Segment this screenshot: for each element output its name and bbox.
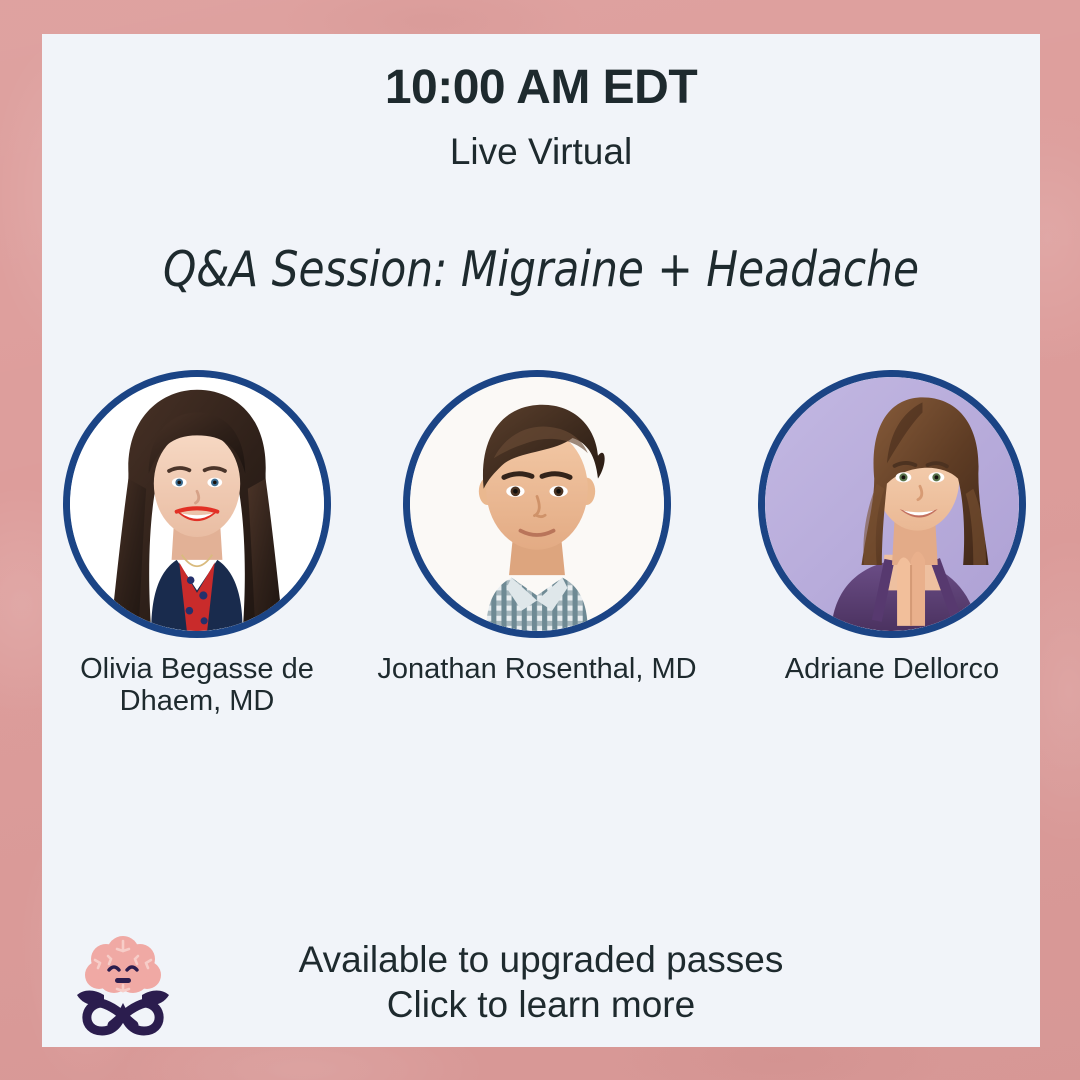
session-format: Live Virtual xyxy=(42,133,1040,170)
headshot-olivia-begasse-de-dhaem xyxy=(70,377,324,631)
speaker-card-1: Jonathan Rosenthal, MD xyxy=(387,370,687,686)
speaker-name: Olivia Begasse de Dhaem, MD xyxy=(47,654,347,718)
headshot-adriane-dellorco xyxy=(765,377,1019,631)
speaker-card-0: Olivia Begasse de Dhaem, MD xyxy=(47,370,347,718)
footer-line-1: Available to upgraded passes xyxy=(42,937,1040,982)
session-time: 10:00 AM EDT xyxy=(42,64,1040,112)
page-title: Q&A Session: Migraine + Headache xyxy=(62,242,1020,298)
speaker-list: Olivia Begasse de Dhaem, MD xyxy=(42,370,1040,700)
avatar xyxy=(758,370,1026,638)
speaker-name: Jonathan Rosenthal, MD xyxy=(367,654,707,686)
poster-canvas: 10:00 AM EDT Live Virtual Q&A Session: M… xyxy=(0,0,1080,1080)
speaker-name: Adriane Dellorco xyxy=(727,654,1040,686)
avatar xyxy=(63,370,331,638)
meditating-brain-logo xyxy=(64,933,182,1037)
footer-line-2: Click to learn more xyxy=(42,982,1040,1027)
headshot-jonathan-rosenthal xyxy=(410,377,664,631)
speaker-card-2: Adriane Dellorco xyxy=(742,370,1040,686)
content-card: 10:00 AM EDT Live Virtual Q&A Session: M… xyxy=(42,34,1040,1047)
avatar xyxy=(403,370,671,638)
footer-cta[interactable]: Available to upgraded passes Click to le… xyxy=(42,937,1040,1027)
